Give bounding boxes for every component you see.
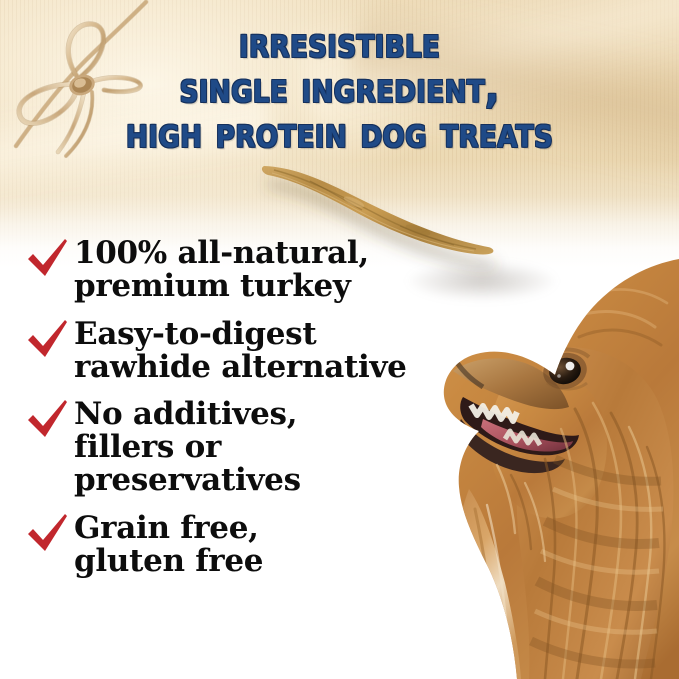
- headline-line-3: High Protein Dog treats: [41, 112, 639, 154]
- dog-drop-shadow: [407, 261, 557, 301]
- list-item-text: Grain free, gluten free: [74, 511, 263, 578]
- red-check-icon: [26, 238, 70, 280]
- product-banner: Irresistible Single Ingredient, High Pro…: [0, 0, 679, 679]
- list-item-line-1: 100% all-natural,: [74, 237, 369, 270]
- red-check-icon: [26, 513, 70, 555]
- red-check-icon: [26, 319, 70, 361]
- list-item-line-2: fillers or: [74, 431, 301, 464]
- red-check-icon: [26, 399, 70, 441]
- list-item-line-1: Easy-to-digest: [74, 318, 407, 351]
- headline-line-1: Irresistible: [41, 22, 639, 64]
- page-title: Irresistible Single Ingredient, High Pro…: [0, 22, 679, 154]
- list-item-line-2: gluten free: [74, 545, 263, 578]
- headline-line-2: Single Ingredient,: [41, 67, 639, 109]
- list-item-text: Easy-to-digest rawhide alternative: [74, 317, 407, 384]
- list-item-line-2: rawhide alternative: [74, 351, 407, 384]
- list-item-line-2: premium turkey: [74, 270, 369, 303]
- list-item-text: 100% all-natural, premium turkey: [74, 236, 369, 303]
- list-item-line-1: Grain free,: [74, 512, 263, 545]
- list-item-text: No additives, fillers or preservatives: [74, 397, 301, 497]
- cocker-spaniel-dog-image: [379, 259, 679, 679]
- list-item-line-1: No additives,: [74, 398, 301, 431]
- list-item-line-3: preservatives: [74, 464, 301, 497]
